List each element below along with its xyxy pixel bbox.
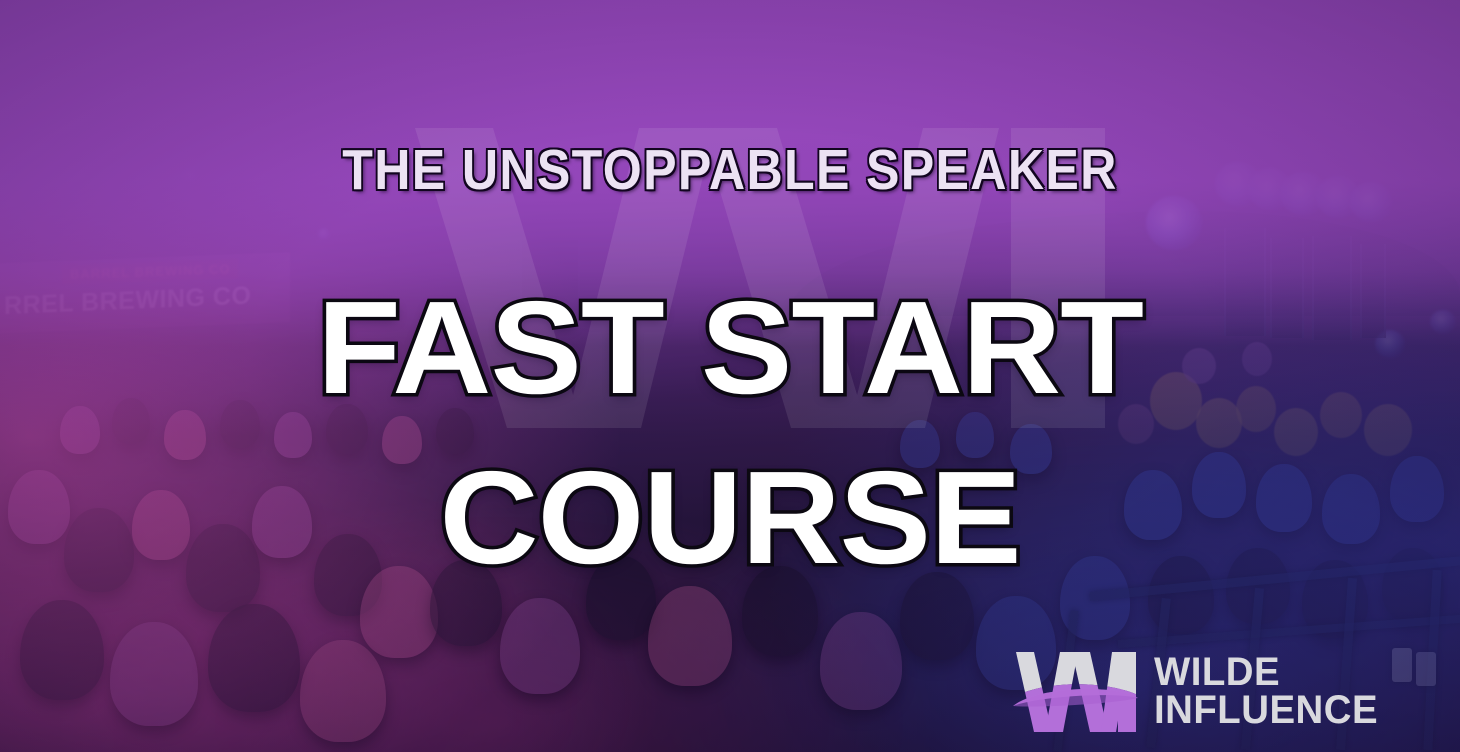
brand-wordmark: WILDE INFLUENCE <box>1154 654 1387 729</box>
brand-name-line2: INFLUENCE <box>1154 692 1378 730</box>
promo-banner: BARREL BREWING CO RREL BREWING CO <box>0 0 1460 752</box>
promo-headline-line1: FAST START <box>0 272 1460 423</box>
wi-monogram-icon <box>1012 646 1140 738</box>
brand-name-line1: WILDE <box>1154 654 1378 692</box>
promo-eyebrow: THE UNSTOPPABLE SPEAKER <box>88 137 1373 203</box>
promo-headline-line2: COURSE <box>0 442 1460 593</box>
brand-logo[interactable]: WILDE INFLUENCE <box>1012 642 1392 742</box>
